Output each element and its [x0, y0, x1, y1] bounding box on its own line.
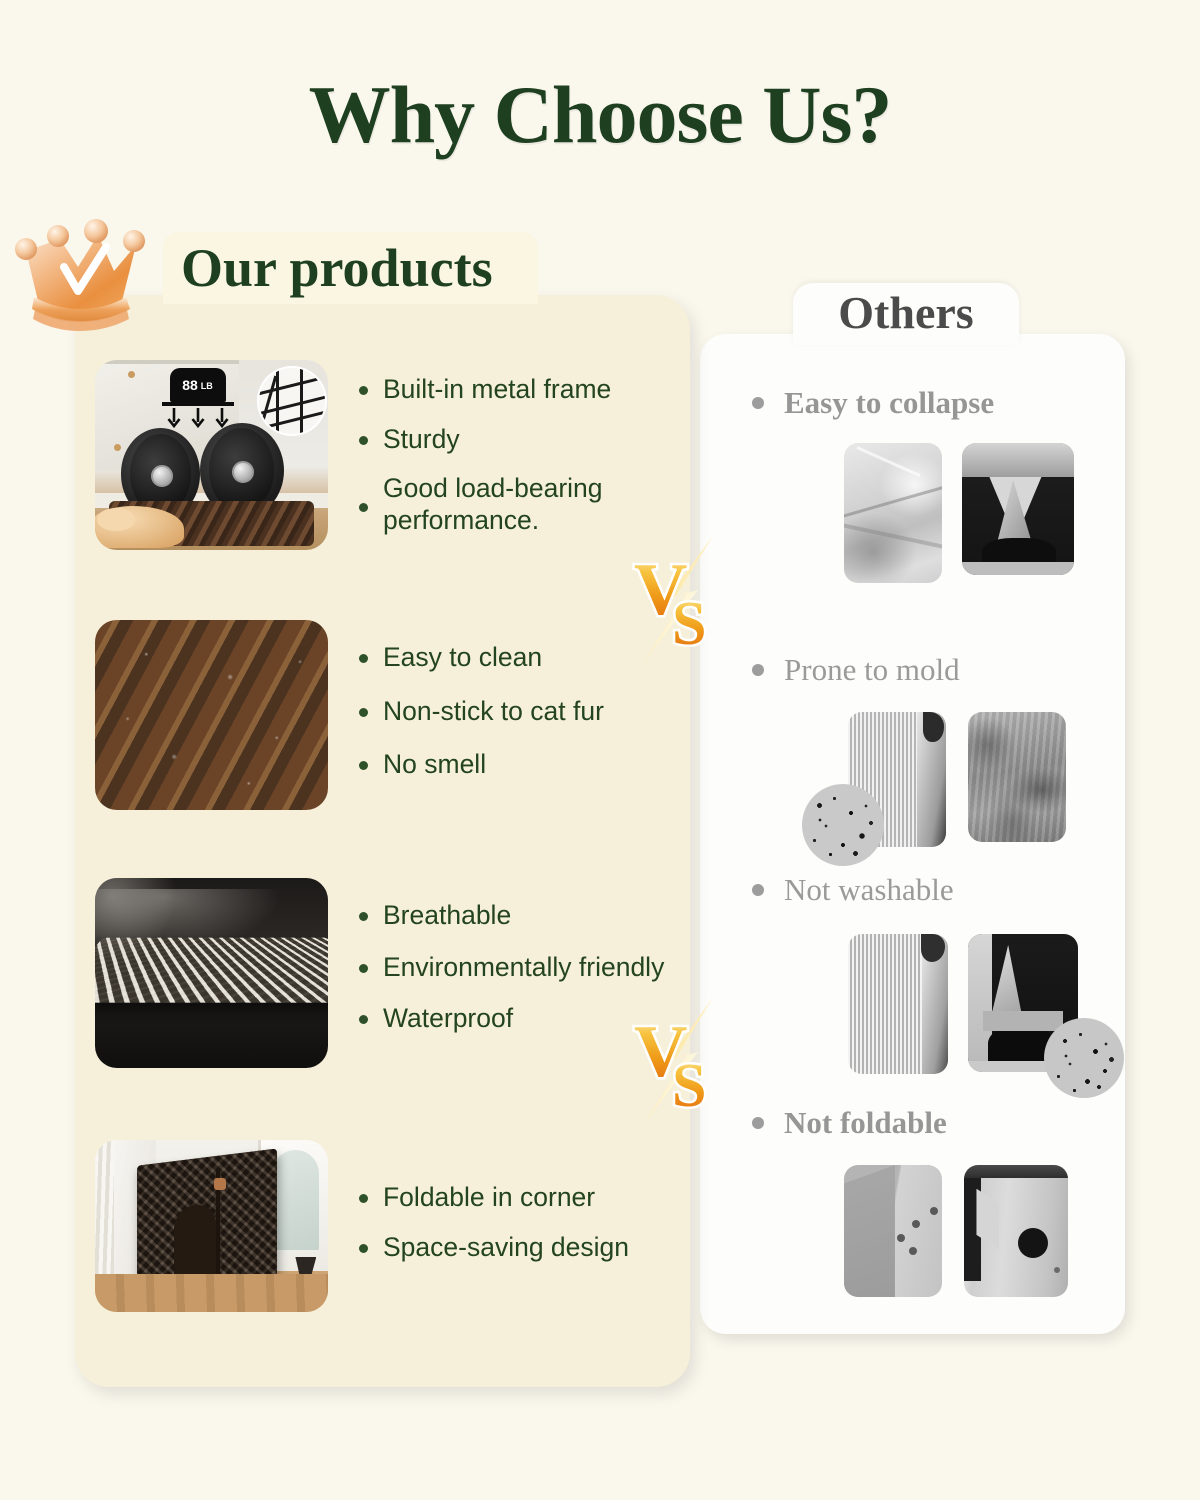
others-section-not-foldable: Not foldable	[752, 1105, 947, 1305]
product-row-breathable: Breathable Environmentally friendly Wate…	[95, 878, 664, 1068]
bullet-text: Waterproof	[383, 1003, 513, 1035]
product-row-easy-to-clean: Easy to clean Non-stick to cat fur No sm…	[95, 620, 604, 810]
bullet-dot-icon	[359, 912, 368, 921]
product-row-built-in-metal-frame: 88 LB	[95, 360, 679, 554]
others-label-text: Not foldable	[784, 1105, 947, 1141]
bullet-dot-icon	[752, 884, 764, 896]
bullet-text: Space-saving design	[383, 1232, 629, 1264]
bullet-dot-icon	[359, 503, 368, 512]
bullet-text: Breathable	[383, 900, 511, 932]
product-row-foldable-in-corner: Foldable in corner Space-saving design	[95, 1140, 629, 1312]
product-thumb-breathable-mesh-panel	[95, 878, 328, 1068]
others-thumb-rigid-box-enclosure	[844, 1165, 942, 1297]
others-image-pair	[796, 435, 994, 595]
others-image-pair	[796, 922, 954, 1100]
others-image-pair	[796, 702, 960, 862]
weight-badge-unit: LB	[201, 381, 213, 391]
bullet-dot-icon	[752, 664, 764, 676]
weight-badge: 88 LB	[170, 368, 226, 402]
list-item: Waterproof	[359, 1003, 664, 1035]
others-thumb-striped-fabric-panel	[848, 934, 948, 1074]
list-item: Non-stick to cat fur	[359, 696, 604, 728]
others-label-text: Not washable	[784, 872, 954, 908]
bullet-text: Sturdy	[383, 424, 460, 456]
others-thumb-collapsed-dark-cat-tent	[962, 443, 1074, 575]
crown-icon	[8, 205, 178, 340]
others-section-label: Prone to mold	[752, 652, 960, 688]
list-item: Breathable	[359, 900, 664, 932]
others-thumb-mildew-stained-surface	[968, 712, 1066, 842]
list-item: Environmentally friendly	[359, 952, 664, 984]
others-image-pair	[796, 1155, 947, 1305]
bullet-dot-icon	[359, 761, 368, 770]
vs-letter-s: S	[672, 1052, 706, 1120]
mold-spots-circle-icon	[802, 784, 884, 866]
others-section-prone-to-mold: Prone to mold	[752, 652, 960, 862]
list-item: Good load-bearing performance.	[359, 473, 679, 536]
bullet-text: Environmentally friendly	[383, 952, 664, 984]
bullet-dot-icon	[752, 1117, 764, 1129]
bullet-dot-icon	[359, 1194, 368, 1203]
product-bullet-list: Built-in metal frame Sturdy Good load-be…	[359, 360, 679, 554]
bullet-dot-icon	[359, 436, 368, 445]
bullet-text: Built-in metal frame	[383, 374, 611, 406]
bullet-dot-icon	[359, 964, 368, 973]
product-thumb-folded-litter-box	[95, 1140, 328, 1312]
others-label-text: Easy to collapse	[784, 385, 994, 421]
page-root: Why Choose Us? Others Easy to collapse	[0, 0, 1200, 1500]
metal-frame-inset-icon	[259, 368, 325, 434]
vs-badge-top: V S	[628, 528, 728, 673]
mold-spots-circle-icon	[1044, 1018, 1124, 1098]
product-bullet-list: Foldable in corner Space-saving design	[359, 1140, 629, 1281]
others-section-not-washable: Not washable	[752, 872, 954, 1100]
others-tab: Others	[793, 283, 1019, 345]
others-section-easy-to-collapse: Easy to collapse	[752, 385, 994, 595]
bullet-text: Good load-bearing performance.	[383, 473, 679, 536]
our-products-tab: Our products	[163, 232, 538, 304]
vs-badge-bottom: V S	[628, 990, 728, 1135]
page-title: Why Choose Us?	[0, 68, 1200, 162]
list-item: Space-saving design	[359, 1232, 629, 1264]
others-tab-label: Others	[838, 290, 973, 338]
bullet-dot-icon	[359, 1015, 368, 1024]
our-products-tab-label: Our products	[163, 241, 493, 295]
list-item: Built-in metal frame	[359, 374, 679, 406]
others-section-label: Not foldable	[752, 1105, 947, 1141]
list-item: Sturdy	[359, 424, 679, 456]
others-label-text: Prone to mold	[784, 652, 960, 688]
product-thumb-dumbbells-on-litter-box: 88 LB	[95, 360, 328, 550]
bullet-text: Foldable in corner	[383, 1182, 595, 1214]
bullet-text: Easy to clean	[383, 642, 542, 674]
others-section-label: Easy to collapse	[752, 385, 994, 421]
others-thumb-rigid-metal-box-round-door	[964, 1165, 1068, 1297]
list-item: Foldable in corner	[359, 1182, 629, 1214]
product-bullet-list: Breathable Environmentally friendly Wate…	[359, 878, 664, 1055]
bullet-text: No smell	[383, 749, 486, 781]
list-item: No smell	[359, 749, 604, 781]
product-bullet-list: Easy to clean Non-stick to cat fur No sm…	[359, 620, 604, 803]
product-thumb-wet-rattan-texture	[95, 620, 328, 810]
weight-badge-value: 88	[182, 378, 198, 392]
others-section-label: Not washable	[752, 872, 954, 908]
bullet-dot-icon	[359, 708, 368, 717]
down-arrows-icon	[167, 408, 228, 430]
bullet-dot-icon	[359, 1244, 368, 1253]
bullet-text: Non-stick to cat fur	[383, 696, 604, 728]
others-thumb-collapsed-fabric-bag	[844, 443, 942, 583]
bullet-dot-icon	[752, 397, 764, 409]
bullet-dot-icon	[359, 386, 368, 395]
vs-letter-s: S	[672, 590, 706, 658]
bullet-dot-icon	[359, 654, 368, 663]
list-item: Easy to clean	[359, 642, 604, 674]
